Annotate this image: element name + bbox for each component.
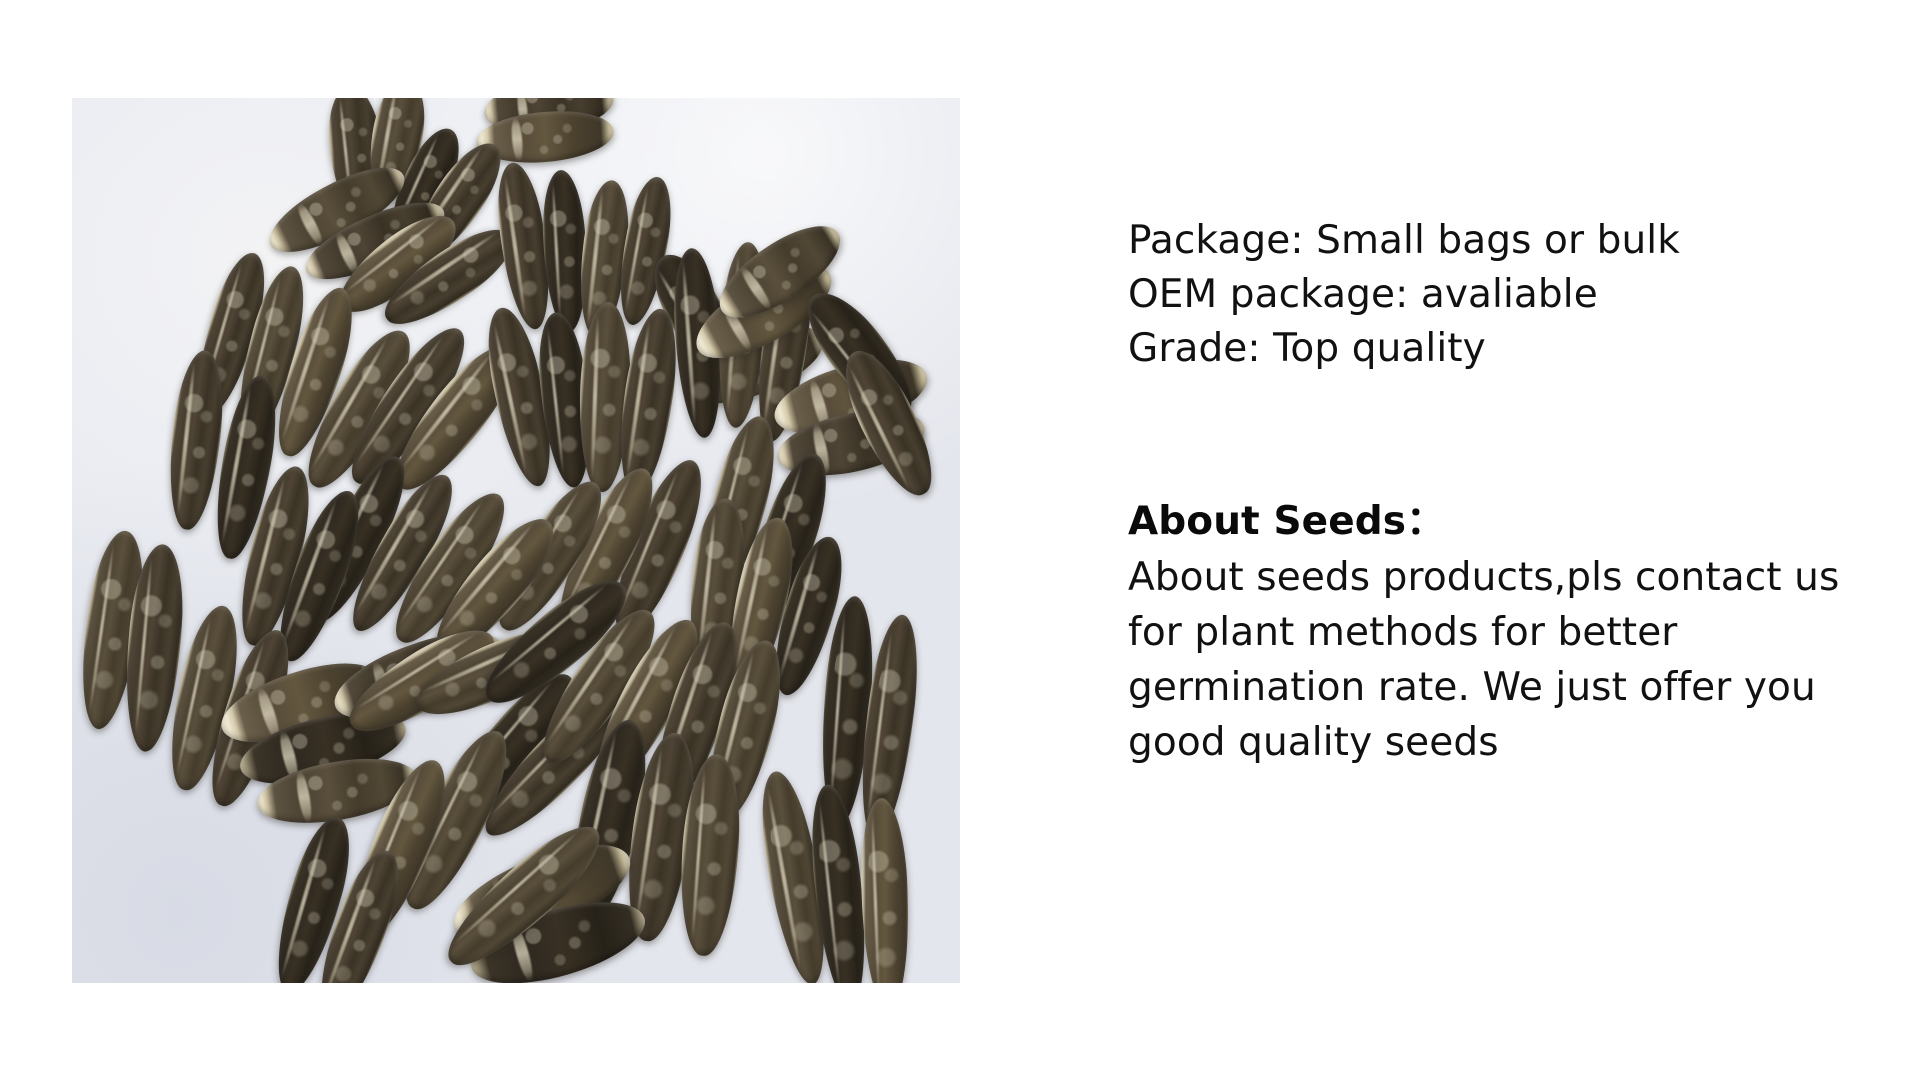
- spec-line-grade: Grade: Top quality: [1128, 322, 1868, 376]
- about-seeds-heading: About Seeds：: [1128, 496, 1868, 548]
- spec-list: Package: Small bags or bulk OEM package:…: [1128, 214, 1868, 376]
- product-slide: Package: Small bags or bulk OEM package:…: [0, 0, 1920, 1080]
- product-image: [72, 98, 960, 983]
- product-description-column: Package: Small bags or bulk OEM package:…: [1128, 214, 1868, 770]
- spec-line-oem-package: OEM package: avaliable: [1128, 268, 1868, 322]
- spec-line-package: Package: Small bags or bulk: [1128, 214, 1868, 268]
- seed: [858, 797, 911, 983]
- about-seeds-body: About seeds products,pls contact us for …: [1128, 550, 1858, 770]
- about-seeds-block: About Seeds： About seeds products,pls co…: [1128, 496, 1868, 770]
- sunflower-seed-cluster: [72, 98, 960, 983]
